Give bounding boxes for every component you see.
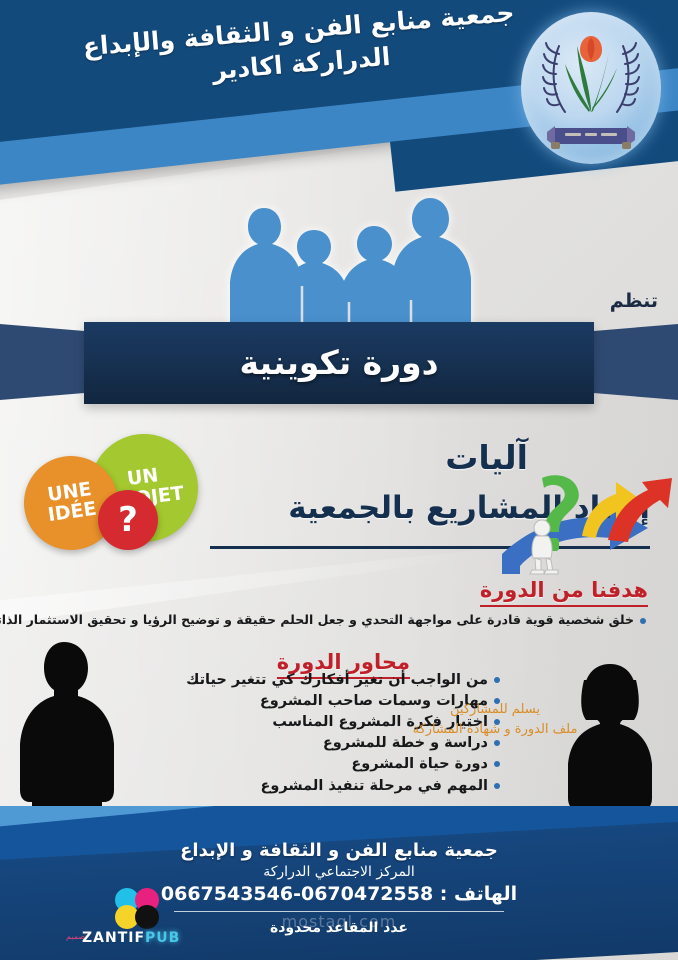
designer-zantif-text: ZANTIF — [82, 930, 145, 946]
bullet-dot-icon — [494, 740, 500, 746]
designer-logo: تصميم ZANTIFPUB — [82, 888, 200, 954]
organizes-label: تنظم — [610, 290, 658, 312]
designer-wordmark: ZANTIFPUB — [82, 930, 200, 946]
association-emblem-icon — [521, 12, 661, 164]
bullet-dot-icon — [494, 677, 500, 683]
question-figure-arrows-icon — [498, 470, 676, 582]
axes-item-text: المهم في مرحلة تنفيذ المشروع — [260, 778, 488, 794]
list-item: المهم في مرحلة تنفيذ المشروع — [200, 778, 500, 795]
ribbon-title-text: دورة تكوينية — [84, 322, 594, 404]
list-item: دورة حياة المشروع — [200, 756, 500, 773]
goal-heading-text: هدفنا من الدورة — [480, 578, 648, 604]
goal-section-heading: هدفنا من الدورة — [480, 578, 648, 607]
goal-bullet-text: خلق شخصية قوية قادرة على مواجهة التحدي و… — [0, 612, 634, 627]
goal-heading-underline — [480, 605, 648, 607]
cmyk-petals-icon — [108, 886, 166, 930]
bullet-dot-icon — [494, 761, 500, 767]
axes-item-text: من الواجب أن تغير أفكارك كي تتغير حياتك — [186, 672, 488, 688]
poster-canvas: جمعية منابع الفن و الثقافة والإبداع الدر… — [0, 0, 678, 960]
bullet-dot-icon — [640, 618, 646, 624]
badge-question-mark: ? — [98, 490, 158, 550]
idea-project-badges: UN PROJET UNE IDÉE ? — [16, 428, 206, 558]
ribbon-flap-left — [0, 324, 92, 400]
axes-item-text: دورة حياة المشروع — [351, 756, 488, 772]
badge-idea-line2: IDÉE — [47, 500, 98, 527]
designer-pub-text: PUB — [145, 930, 180, 946]
course-ribbon-banner: دورة تكوينية — [0, 322, 678, 412]
goal-bullet-row: خلق شخصية قوية قادرة على مواجهة التحدي و… — [32, 612, 646, 627]
list-item: من الواجب أن تغير أفكارك كي تتغير حياتك — [200, 672, 500, 689]
ribbon-flap-right — [586, 324, 678, 400]
footer-center-name: المركز الاجتماعي الدراركة — [0, 864, 678, 880]
ribbon-main-panel: دورة تكوينية — [84, 322, 594, 404]
footer-association-name: جمعية منابع الفن و الثقافة و الإبداع — [0, 840, 678, 861]
bullet-dot-icon — [494, 783, 500, 789]
